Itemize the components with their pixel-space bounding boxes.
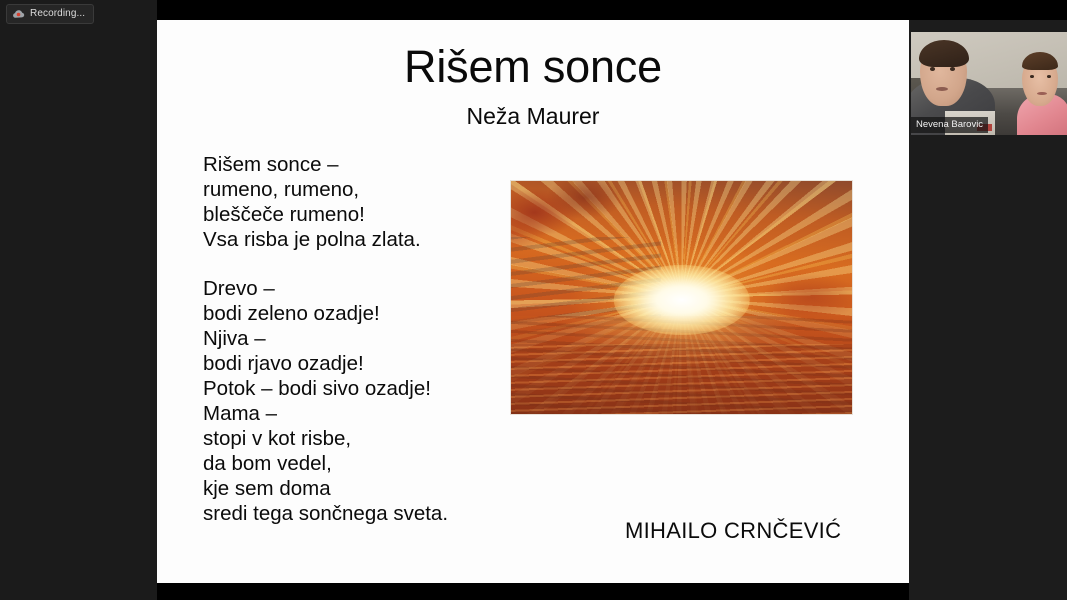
participant-video-tile[interactable]: Nevena Barovic: [911, 32, 1067, 135]
cloud-record-icon: [12, 8, 25, 21]
poem-line: da bom vedel,: [203, 451, 533, 476]
shared-slide: Rišem sonce Neža Maurer Rišem sonce – ru…: [157, 20, 909, 583]
screen-share-view: Recording... Nevena Barovic: [0, 0, 1067, 600]
right-top-black-strip: [909, 0, 1067, 20]
recording-indicator[interactable]: Recording...: [6, 4, 94, 24]
poem-line: sredi tega sončnega sveta.: [203, 501, 533, 526]
poem-line: Mama –: [203, 401, 533, 426]
slide-title: Rišem sonce: [157, 42, 909, 92]
video-person-boy-eye-right: [950, 67, 955, 71]
recording-label: Recording...: [30, 9, 85, 19]
poem-line: kje sem doma: [203, 476, 533, 501]
poem-stanza: Rišem sonce – rumeno, rumeno, bleščeče r…: [203, 152, 533, 252]
poem-line: Vsa risba je polna zlata.: [203, 227, 533, 252]
sunset-foreground-ripples: [511, 344, 852, 414]
poem-line: Rišem sonce –: [203, 152, 533, 177]
poem-line: stopi v kot risbe,: [203, 426, 533, 451]
video-person-boy-eye-left: [930, 67, 935, 71]
video-person-boy-mouth: [936, 87, 948, 91]
video-person-girl-mouth: [1037, 92, 1046, 95]
sun-core-glow: [613, 265, 749, 335]
poem-line: bleščeče rumeno!: [203, 202, 533, 227]
poem-line: Njiva –: [203, 326, 533, 351]
video-person-boy-hair: [919, 40, 969, 67]
poem-line: rumeno, rumeno,: [203, 177, 533, 202]
sunburst-sunset-photo: [510, 180, 853, 415]
left-dark-panel: [0, 0, 157, 600]
poem-text-block: Rišem sonce – rumeno, rumeno, bleščeče r…: [203, 152, 533, 526]
poem-line: bodi rjavo ozadje!: [203, 351, 533, 376]
participant-name-label: Nevena Barovic: [911, 117, 988, 134]
poem-line: Drevo –: [203, 276, 533, 301]
slide-subtitle-author: Neža Maurer: [157, 104, 909, 129]
slide-attribution: MIHAILO CRNČEVIĆ: [625, 518, 841, 544]
poem-stanza: Drevo – bodi zeleno ozadje! Njiva – bodi…: [203, 276, 533, 526]
poem-line: Potok – bodi sivo ozadje!: [203, 376, 533, 401]
poem-line: bodi zeleno ozadje!: [203, 301, 533, 326]
